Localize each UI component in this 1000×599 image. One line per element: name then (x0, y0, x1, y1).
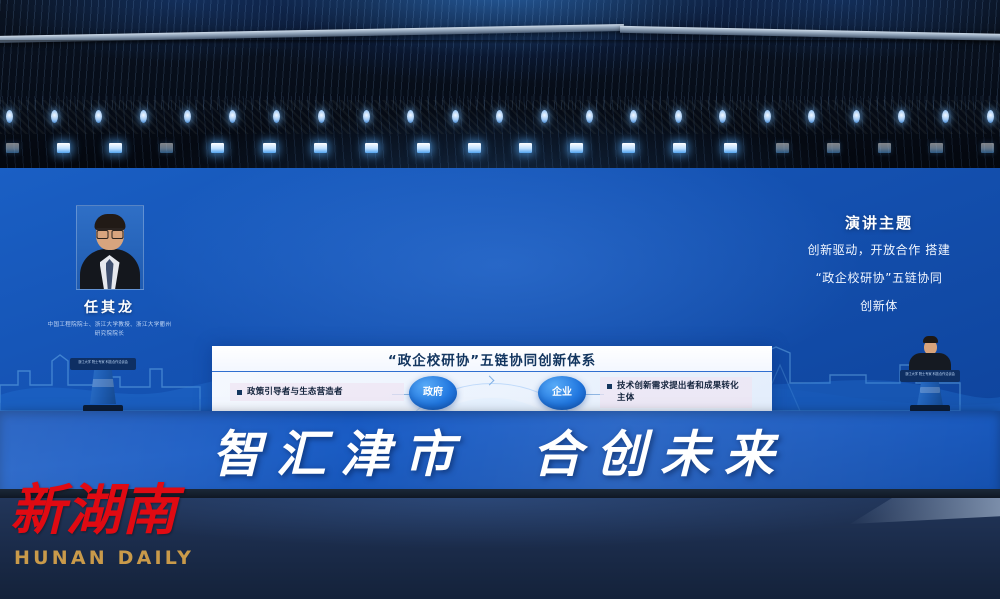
stage-light-icon (673, 143, 686, 153)
stage-light-icon (468, 143, 481, 153)
podium-right: 浙江大学 院士专家 科技合作洽谈会 (884, 340, 976, 412)
podium-left-plate-text: 浙江大学 院士专家 科技合作洽谈会 (70, 358, 136, 364)
stage-light-icon (541, 110, 548, 123)
stage-light-icon (942, 110, 949, 123)
podium-left-stand (90, 370, 116, 404)
stage-light-icon (6, 143, 19, 153)
podium-left: 浙江大学 院士专家 科技合作洽谈会 (58, 358, 148, 412)
projected-slide: “政企校研协”五链协同创新体系 协同 创新 (212, 346, 772, 411)
stage-light-icon (184, 110, 191, 123)
stage-light-icon (898, 110, 905, 123)
callout-text: 政策引导者与生态营造者 (247, 386, 343, 398)
stage-light-icon (724, 143, 737, 153)
stage-light-icon (140, 110, 147, 123)
stage-light-icon (496, 110, 503, 123)
glasses-icon (96, 228, 123, 236)
stage-light-icon (57, 143, 70, 153)
node-label: 企业 (552, 387, 572, 398)
beam-shadow (0, 40, 1000, 44)
stage-light-icon (586, 110, 593, 123)
watermark-chinese-logo: 新湖南 (10, 482, 222, 538)
stage-light-icon (51, 110, 58, 123)
slide-title: “政企校研协”五链协同创新体系 (388, 349, 596, 369)
podium-right-nameplate: 浙江大学 院士专家 科技合作洽谈会 (900, 370, 960, 382)
bullet-square-icon (607, 384, 612, 389)
speaker-portrait-photo (76, 205, 144, 290)
conference-stage-scene: 任其龙 中国工程院院士、浙江大学教授、浙江大学衢州研究院院长 演讲主题 创新驱动… (0, 0, 1000, 599)
stage-light-icon (273, 110, 280, 123)
podium-right-logo (920, 387, 940, 393)
ceiling-area (0, 0, 1000, 172)
stage-light-icon (407, 110, 414, 123)
podium-left-logo (90, 379, 116, 387)
stage-light-icon (878, 143, 891, 153)
stage-light-icon (318, 110, 325, 123)
stage-light-icon (675, 110, 682, 123)
stage-light-icon (981, 143, 994, 153)
callout-enterprise-role: 技术创新需求提出者和成果转化主体 (600, 377, 752, 408)
callout-text: 技术创新需求提出者和成果转化主体 (617, 380, 745, 405)
topic-line-2: “政企校研协”五链协同 (768, 268, 990, 289)
stage-light-icon (263, 143, 276, 153)
podium-right-plate-text: 浙江大学 院士专家 科技合作洽谈会 (900, 370, 960, 376)
stage-light-icon (827, 143, 840, 153)
stage-light-icon (776, 143, 789, 153)
stage-light-icon (314, 143, 327, 153)
stage-light-icon (622, 143, 635, 153)
speaker-info-card: 任其龙 中国工程院院士、浙江大学教授、浙江大学衢州研究院院长 (47, 205, 172, 335)
topic-line-1: 创新驱动，开放合作 搭建 (768, 240, 990, 261)
stage-light-icon (987, 110, 994, 123)
stage-light-icon (519, 143, 532, 153)
stage-light-icon (95, 110, 102, 123)
stage-light-icon (853, 110, 860, 123)
stage-light-icon (211, 143, 224, 153)
node-enterprise: 企业 (538, 376, 586, 410)
event-banner-text: 智汇津市 合创未来 (0, 415, 1000, 487)
stage-light-icon (764, 110, 771, 123)
presentation-topic-panel: 演讲主题 创新驱动，开放合作 搭建 “政企校研协”五链协同 创新体 (768, 212, 990, 317)
callout-government-role: 政策引导者与生态营造者 (230, 383, 404, 401)
stage-light-icon (808, 110, 815, 123)
podium-left-nameplate: 浙江大学 院士专家 科技合作洽谈会 (70, 358, 136, 370)
stage-light-icon (6, 110, 13, 123)
topic-heading: 演讲主题 (768, 212, 990, 233)
node-label: 政府 (423, 387, 443, 398)
speaker-hair (923, 336, 938, 343)
hunan-daily-watermark: 新湖南 HUNAN DAILY (10, 482, 222, 569)
stage-light-icon (570, 143, 583, 153)
stage-light-icon (452, 110, 459, 123)
led-backdrop-wall: 任其龙 中国工程院院士、浙江大学教授、浙江大学衢州研究院院长 演讲主题 创新驱动… (0, 168, 1000, 411)
stage-light-icon (719, 110, 726, 123)
stage-light-icon (930, 143, 943, 153)
stage-light-row-upper (0, 110, 1000, 123)
speaker-name: 任其龙 (47, 297, 172, 317)
speaker-credentials: 中国工程院院士、浙江大学教授、浙江大学衢州研究院院长 (47, 321, 172, 338)
stage-light-icon (160, 143, 173, 153)
stage-light-icon (363, 110, 370, 123)
stage-light-icon (109, 143, 122, 153)
stage-light-icon (229, 110, 236, 123)
podium-right-stand (917, 382, 943, 406)
watermark-english-logo: HUNAN DAILY (14, 547, 222, 569)
slide-diagram: 协同 创新 政府 企业 行 (212, 373, 772, 411)
bullet-square-icon (237, 390, 242, 395)
node-government: 政府 (409, 376, 457, 410)
stage-light-icon (417, 143, 430, 153)
stage-light-row-lower (0, 143, 1000, 153)
topic-line-3: 创新体 (768, 296, 990, 317)
stage-light-icon (630, 110, 637, 123)
stage-light-icon (365, 143, 378, 153)
slide-title-bar: “政企校研协”五链协同创新体系 (212, 346, 772, 372)
